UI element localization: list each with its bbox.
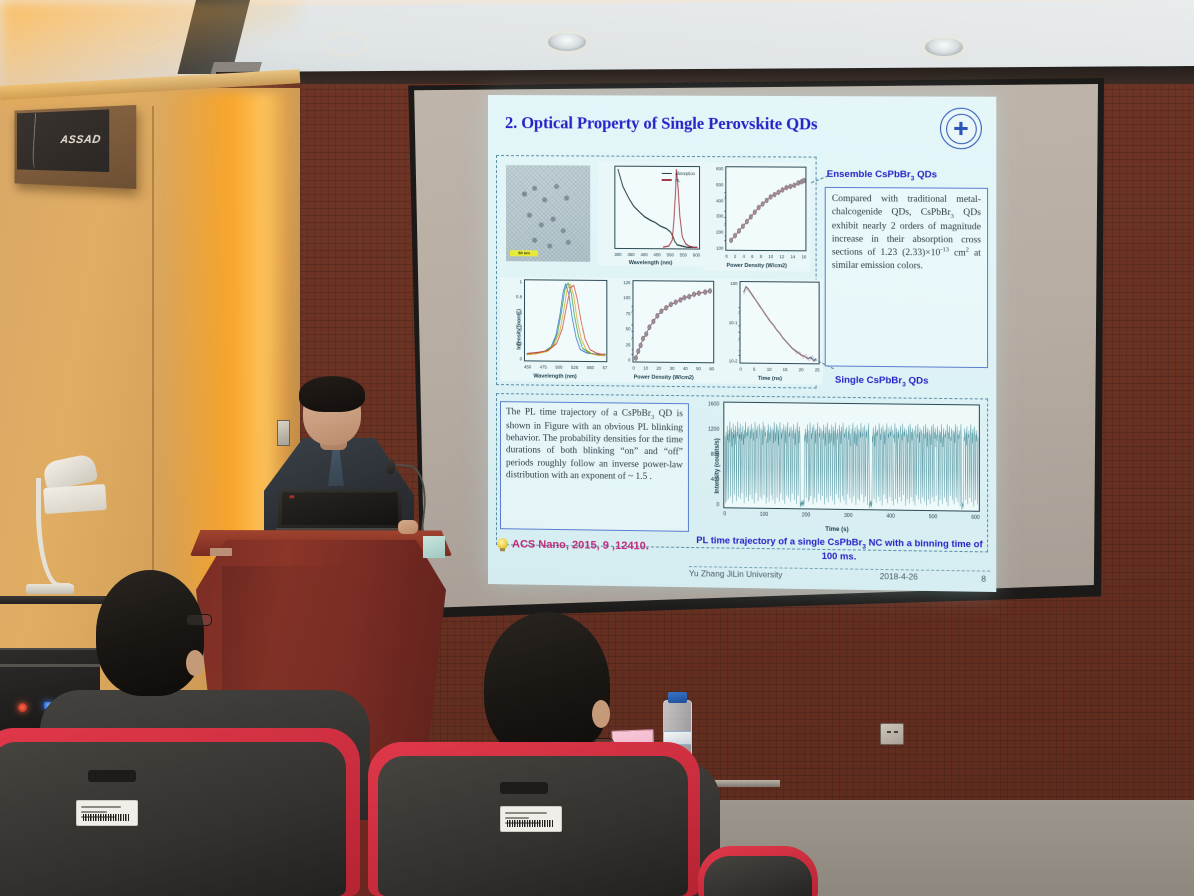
light-switch[interactable]: [277, 420, 290, 446]
chart-abs-pl-legend: absorption PL: [662, 171, 695, 184]
chart-sqd-spec-plotbox: [524, 279, 607, 362]
chart-sqd-sat-plotbox: [632, 280, 714, 363]
chart-sqd-sat-points: [633, 281, 713, 362]
blinking-description-textbox: The PL time trajectory of a CsPbBr3 QD i…: [500, 401, 689, 532]
chart-ens-sat-points: [726, 167, 805, 250]
chart-sqd-sat-xlabel: Power Density (W/cm2): [610, 374, 717, 381]
ceiling-warm-glow: [0, 0, 300, 120]
water-bottle-cap: [668, 692, 687, 703]
seat-handle-slot: [88, 770, 136, 782]
chart-ens-sat-yticks: 600 500 400 300 200 100: [703, 166, 723, 251]
audience-ear: [592, 700, 610, 728]
microphone-head-icon: [386, 459, 395, 474]
chart-pl-decay: Intensity (arb. units) 100 10-1 10-2 0 5…: [717, 279, 822, 385]
legend-pl: PL: [675, 178, 680, 183]
chart-decay-curve: [741, 282, 819, 363]
podium-side-light: [423, 536, 445, 558]
tem-micrograph: 50 nm: [506, 165, 590, 262]
chart-blink-xlabel: Time (s): [689, 525, 986, 535]
podium-nameplate: [210, 548, 232, 556]
lightbulb-icon: [496, 538, 509, 552]
legend-absorption: absorption: [675, 171, 695, 176]
chart-blink-xticks: 0 100 200 300 400 500 600: [723, 511, 980, 521]
audience-seat-back: [704, 856, 812, 896]
footer-page-number: 8: [981, 574, 986, 584]
presenter-hair: [299, 376, 365, 412]
chart-sqd-spec-xticks: 450 475 500 525 550 57: [524, 364, 607, 370]
audience-head: [484, 612, 610, 760]
chart-abs-pl-spectrum: Intensity (norm.) absorption PL 300 350 …: [598, 162, 703, 267]
wall-seam: [152, 106, 154, 586]
lamp-tray: [43, 484, 107, 514]
chart-decay-yticks: 100 10-1 10-2: [717, 281, 737, 364]
tem-scalebar: 50 nm: [510, 250, 538, 256]
callout-single: Single CsPbBr3 QDs: [835, 375, 929, 389]
chart-sqd-spec-xlabel: Wavelength (nm): [500, 373, 610, 380]
eyeglasses: [186, 614, 212, 626]
chart-sqd-sat-xticks: 0 10 20 30 40 50 60: [632, 365, 714, 371]
speaker-brand-label: ASSAD: [60, 134, 102, 146]
presenter-hand: [398, 520, 418, 534]
laptop-screen: [282, 492, 399, 525]
seat-barcode-icon: [83, 814, 129, 821]
downlight-icon: [548, 33, 586, 51]
seat-asset-tag: [500, 806, 562, 832]
wall-outlet[interactable]: [880, 723, 904, 745]
callout-ensemble: Ensemble CsPbBr3 QDs: [827, 169, 937, 183]
chart-blink-trace: [724, 403, 979, 511]
chart-abs-pl-plotbox: absorption PL: [614, 166, 700, 250]
chart-blink-plotbox: [723, 402, 980, 512]
seat-handle-slot: [500, 782, 548, 794]
audience-head: [96, 570, 204, 696]
av-rack-shelf: [0, 664, 100, 667]
chart-single-qd-saturation: Intensity (arb. units) 125 100 75 50 25 …: [610, 278, 717, 383]
seat-asset-tag: [76, 800, 138, 826]
chart-blink-yticks: 1600 1200 800 400 0: [697, 401, 719, 508]
footer-author: Yu Zhang JiLin University: [689, 569, 783, 580]
chart-ensemble-saturation: Intensity (arb. units) 600 500 400 300 2…: [703, 162, 810, 271]
chart-sqd-spec-curves: [525, 280, 606, 361]
gooseneck-lamp: [26, 458, 98, 604]
chart-decay-xticks: 0 5 10 15 20 25: [739, 367, 819, 373]
chart-ens-sat-xticks: 0 2 4 6 8 10 12 14 16: [725, 254, 806, 260]
presentation-slide: 2. Optical Property of Single Perovskite…: [488, 95, 996, 592]
av-power-led-icon: [18, 703, 27, 712]
chart-abs-pl-xlabel: Wavelength (nm): [598, 260, 703, 267]
chart-ens-sat-plotbox: [725, 166, 806, 251]
chart-sqd-sat-yticks: 125 100 75 50 25 0: [610, 280, 630, 362]
seat-barcode-icon: [507, 820, 553, 827]
ensemble-description-textbox: Compared with traditional metal-chalcoge…: [825, 187, 988, 368]
slide-footer: Yu Zhang JiLin University 2018-4-26 8: [488, 566, 996, 588]
audience-ear: [186, 650, 204, 676]
chart-decay-xlabel: Time (ns): [717, 375, 822, 382]
wall-speaker: ASSAD: [15, 105, 137, 189]
lamp-base: [26, 584, 74, 594]
tem-grain: [506, 165, 590, 262]
lecture-hall-scene: ASSAD 2. Optical Property of Single Pero…: [0, 0, 1194, 896]
chart-decay-plotbox: [739, 281, 819, 364]
audience-seat-back: [0, 742, 346, 896]
jilin-university-seal-icon: [940, 108, 982, 150]
chart-abs-pl-xticks: 300 350 400 450 500 550 600: [614, 252, 700, 258]
slide-title: 2. Optical Property of Single Perovskite…: [505, 113, 817, 134]
chart-pl-blinking-trajectory: Intensity (counts/s) 1600 1200 800 400 0: [689, 397, 986, 538]
citation-reference: ACS Nano, 2015, 9 ,12410.: [512, 538, 649, 552]
chart-ens-sat-xlabel: Power Density (W/cm2): [703, 263, 810, 270]
chart-single-qd-spectra: Intensity (norm.) 1 0.8 0.6 0.4 0.2 0 45…: [500, 277, 610, 382]
chart-sqd-spec-yticks: 1 0.8 0.6 0.4 0.2 0: [500, 279, 522, 361]
downlight-icon: [326, 34, 366, 54]
blinking-chart-caption: PL time trajectory of a single CsPbBr3 N…: [689, 535, 990, 565]
downlight-icon: [925, 38, 963, 56]
laptop-logo-icon: [289, 495, 294, 498]
footer-date: 2018-4-26: [880, 572, 918, 582]
